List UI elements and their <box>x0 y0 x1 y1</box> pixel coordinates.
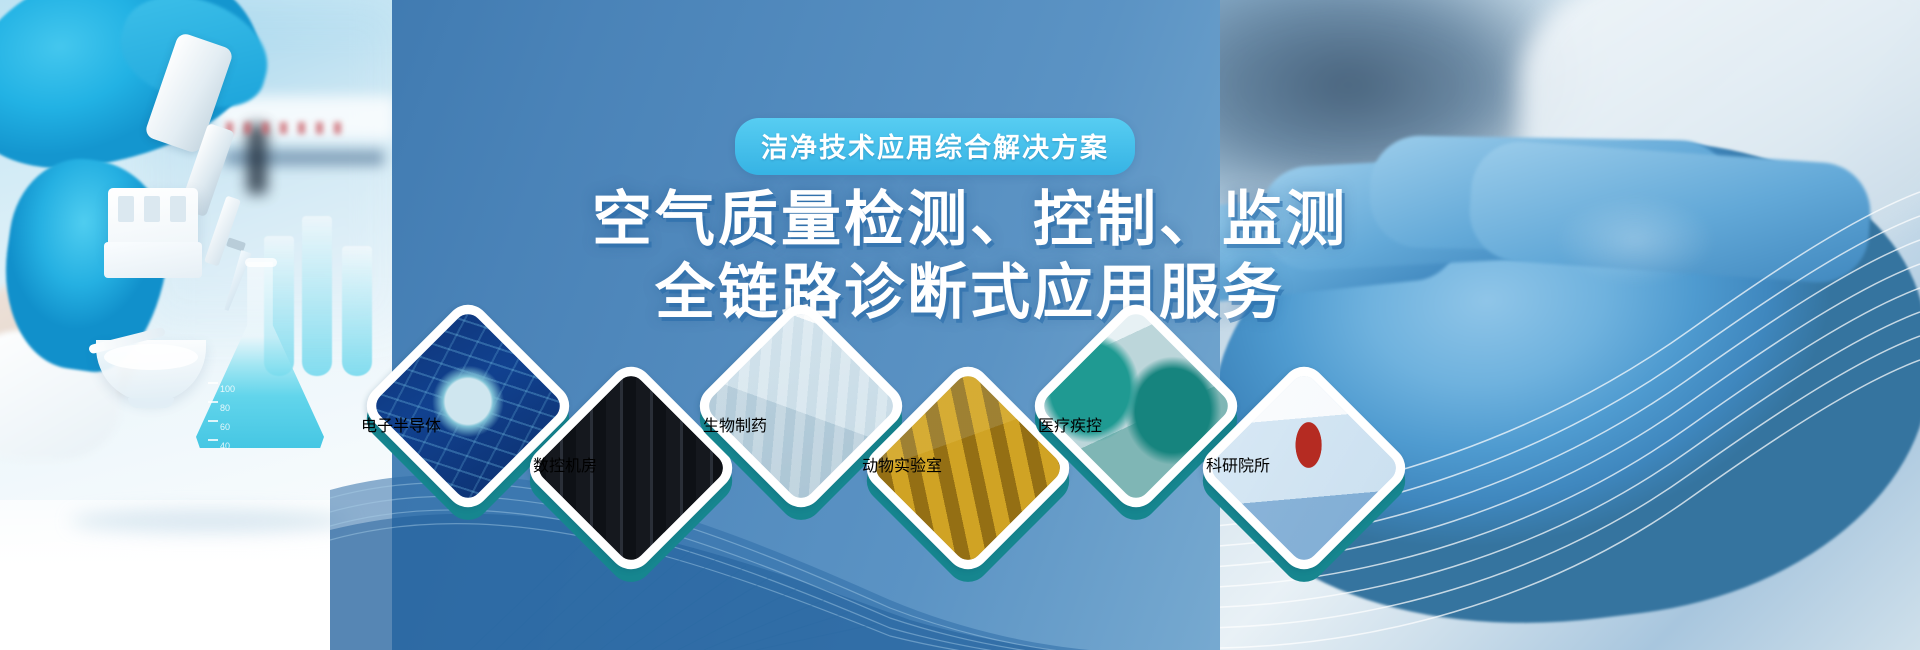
industry-card-label-wrap-6: 科研院所 <box>1128 452 1348 476</box>
industry-card-label-medical: 医疗疾控 <box>1038 412 1102 436</box>
industry-card-row: 电子半导体 数控机房 生物制药 <box>0 0 1920 650</box>
industry-card-label-semiconductor: 电子半导体 <box>361 412 441 436</box>
industry-card-label-wrap-5: 医疗疾控 <box>960 412 1180 436</box>
industry-card-label-datacenter: 数控机房 <box>533 452 597 476</box>
hero-banner: 100 80 60 40 <box>0 0 1920 650</box>
industry-card-label-animal-lab: 动物实验室 <box>862 452 942 476</box>
industry-card-label-wrap-1: 电子半导体 <box>291 412 511 436</box>
industry-card-label-biopharma: 生物制药 <box>703 412 767 436</box>
industry-card-label-wrap-2: 数控机房 <box>455 452 675 476</box>
industry-card-label-research: 科研院所 <box>1206 452 1270 476</box>
industry-card-label-wrap-4: 动物实验室 <box>792 452 1012 476</box>
industry-card-label-wrap-3: 生物制药 <box>625 412 845 436</box>
